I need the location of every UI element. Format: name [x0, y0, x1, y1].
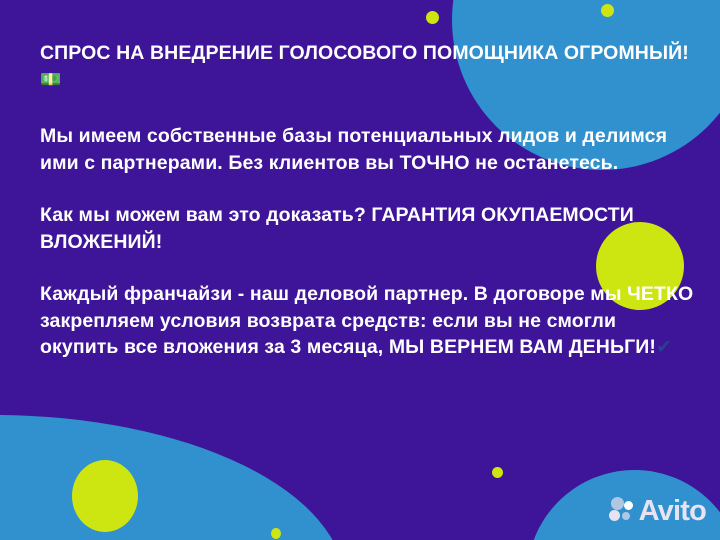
check-mark-emoji: ✔ — [656, 336, 672, 358]
refund-text: Каждый франчайзи - наш деловой партнер. … — [40, 283, 693, 358]
blue-ellipse-bottom-left — [0, 415, 345, 540]
refund-paragraph: Каждый франчайзи - наш деловой партнер. … — [40, 281, 695, 361]
leads-paragraph: Мы имеем собственные базы потенциальных … — [40, 123, 695, 176]
avito-dots-logo-icon — [609, 497, 635, 526]
headline-text: СПРОС НА ВНЕДРЕНИЕ ГОЛОСОВОГО ПОМОЩНИКА … — [40, 42, 689, 64]
yellow-dot-top-left — [426, 11, 439, 24]
leads-text: Мы имеем собственные базы потенциальных … — [40, 125, 667, 174]
slide-text-content: СПРОС НА ВНЕДРЕНИЕ ГОЛОСОВОГО ПОМОЩНИКА … — [40, 40, 695, 361]
promo-slide: СПРОС НА ВНЕДРЕНИЕ ГОЛОСОВОГО ПОМОЩНИКА … — [0, 0, 720, 540]
yellow-dot-bottom-left — [271, 528, 281, 539]
avito-logo: Avito — [609, 497, 706, 526]
headline-paragraph: СПРОС НА ВНЕДРЕНИЕ ГОЛОСОВОГО ПОМОЩНИКА … — [40, 40, 695, 93]
yellow-dot-top-right — [601, 4, 614, 17]
yellow-circle-bottom-left — [72, 460, 138, 532]
avito-logo-wordmark: Avito — [639, 497, 706, 526]
guarantee-text: Как мы можем вам это доказать? ГАРАНТИЯ … — [40, 204, 634, 253]
money-banknote-emoji: 💵 — [40, 70, 61, 90]
yellow-dot-bottom-middle — [492, 467, 503, 478]
guarantee-paragraph: Как мы можем вам это доказать? ГАРАНТИЯ … — [40, 202, 695, 255]
